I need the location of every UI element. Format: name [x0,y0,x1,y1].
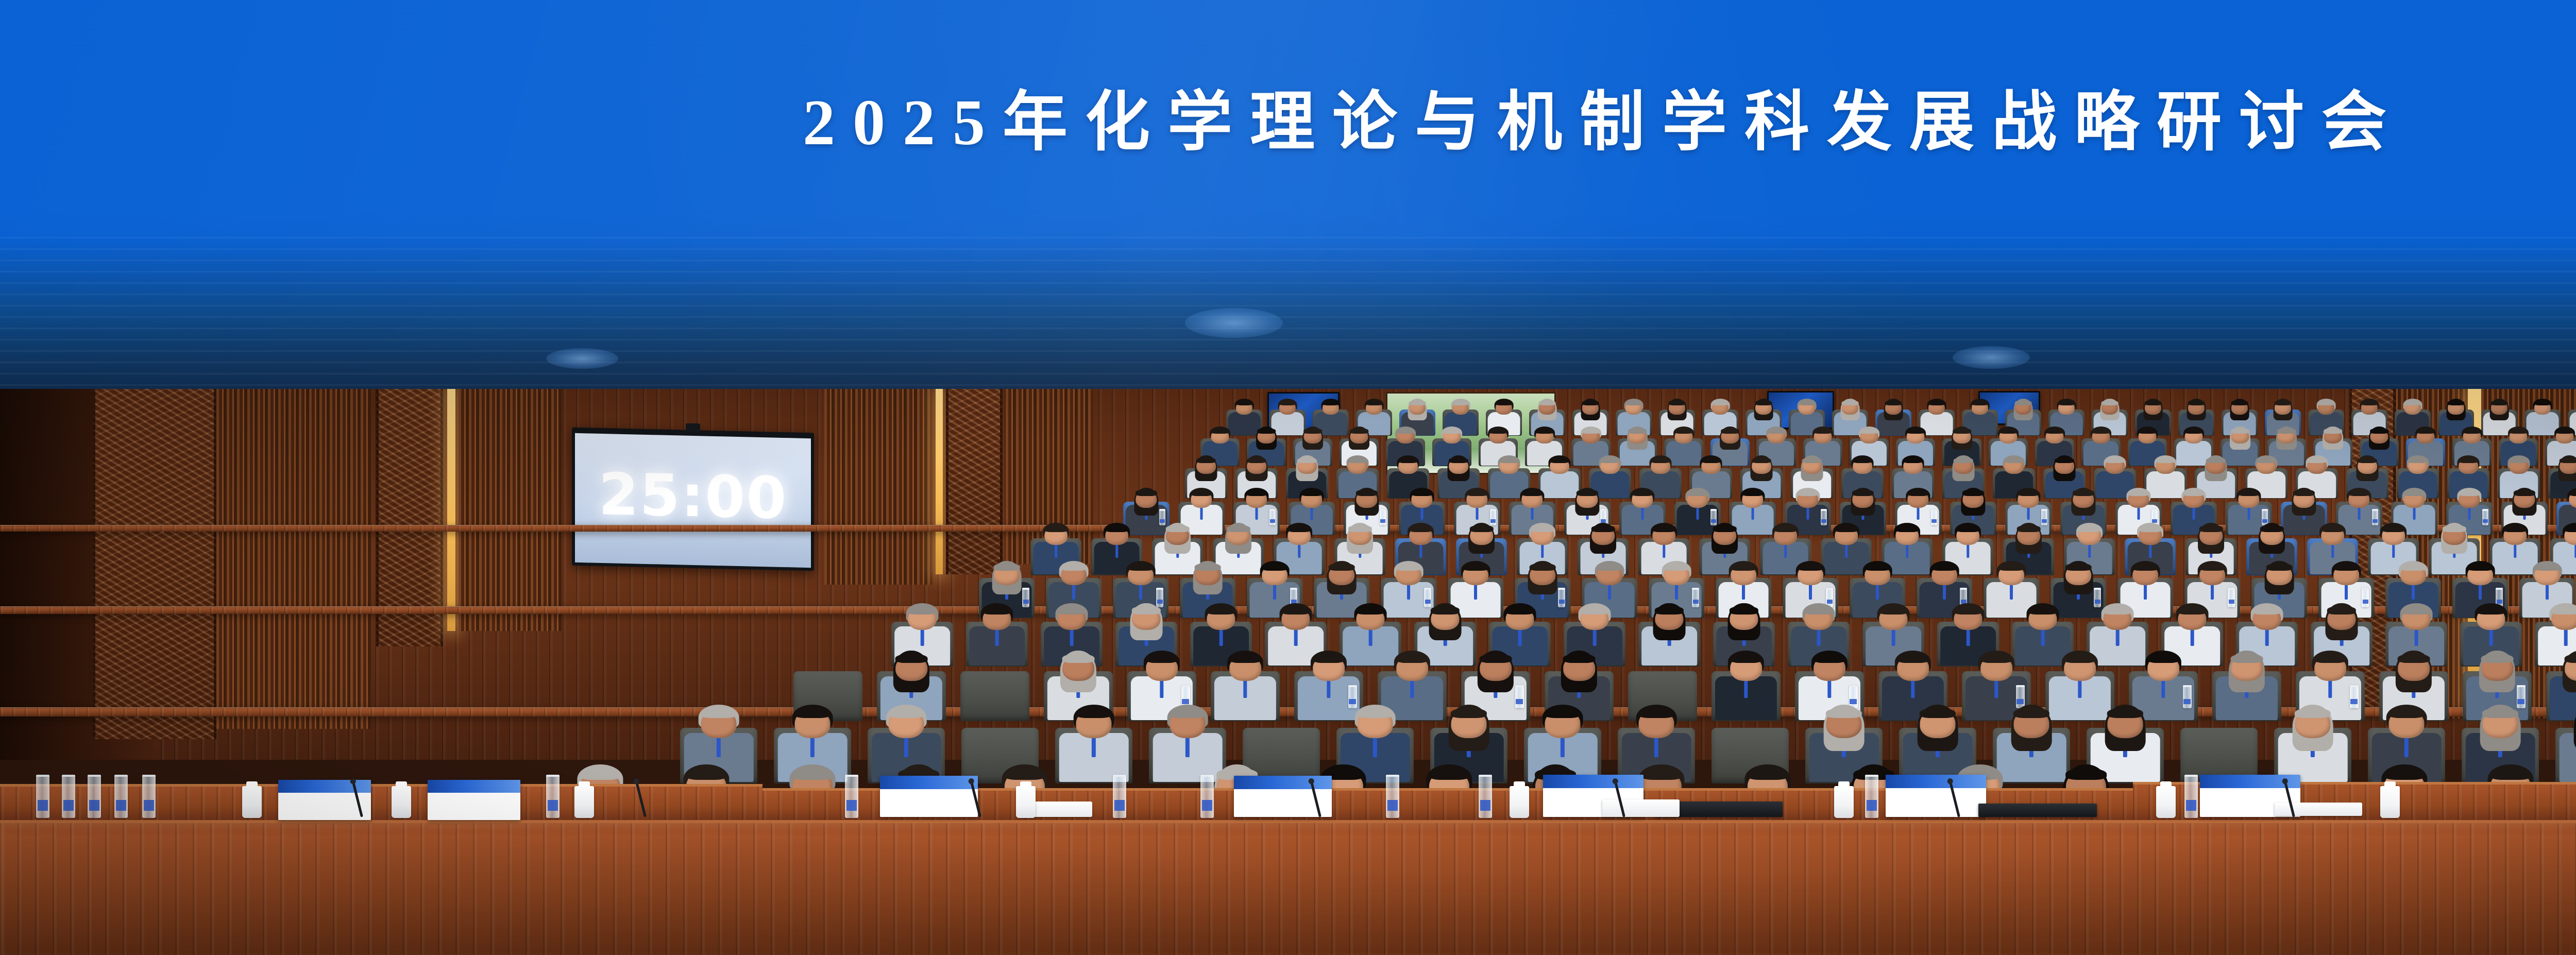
person-fringe [2107,708,2143,718]
person-fringe [1956,525,1979,532]
person-fringe [1466,489,1488,496]
person-fringe [1641,768,1682,780]
lanyard [717,737,721,758]
person-fringe [1628,428,1647,433]
ceiling-lamp-icon [546,348,618,369]
person-fringe [2481,654,2514,663]
lanyard [1256,507,1258,520]
person-fringe [1303,428,1322,433]
lanyard [1917,507,1920,520]
lanyard [1994,680,1998,698]
placard-org [880,776,978,789]
person-fringe [2105,457,2125,463]
lanyard [1541,544,1544,558]
person-fringe [1998,563,2025,571]
person-fringe [1226,525,1250,532]
person-fringe [2103,606,2132,614]
person-fringe [2058,400,2075,405]
person-fringe [2252,606,2281,614]
person-fringe [1211,428,1229,433]
lanyard [1294,629,1298,646]
person-fringe [1505,606,1534,614]
person-fringe [1730,654,1762,663]
person-fringe [1356,489,1378,496]
person-fringe [1229,654,1262,663]
lanyard [1752,507,1754,520]
person-fringe [1301,489,1323,496]
person-fringe [1962,489,1984,496]
lanyard [2412,585,2415,600]
person-fringe [2065,768,2107,780]
projector-screen: 25:00 [572,428,814,571]
lanyard [2413,507,2416,520]
person-fringe [1920,708,1956,718]
person-fringe [1348,457,1367,463]
person-fringe [994,563,1020,571]
person-fringe [2467,563,2494,571]
water-bottle [1113,775,1126,818]
lanyard [1641,507,1644,520]
open-document [2275,803,2362,816]
person-fringe [1687,489,1708,496]
person-fringe [1257,428,1276,433]
person-fringe [2388,708,2425,718]
lanyard [1421,507,1423,520]
person-fringe [888,708,924,718]
person-fringe [1865,563,1891,571]
person-fringe [2183,489,2205,496]
lanyard [1092,737,1096,758]
person-fringe [2295,708,2331,718]
placard-org [278,780,371,793]
person-fringe [1652,525,1675,532]
person-fringe [2503,525,2527,532]
auditorium-seat [960,671,1029,721]
person-fringe [2266,563,2293,571]
lanyard [1531,507,1534,520]
placard-org [428,780,520,793]
person-fringe [1632,489,1653,496]
person-fringe [2013,708,2049,718]
person-fringe [2015,400,2032,405]
person-fringe [1196,457,1216,463]
lanyard [1185,737,1190,758]
person-fringe [1767,428,1786,433]
person-fringe [1879,606,1908,614]
person-fringe [1348,525,1371,532]
lanyard [2041,629,2045,646]
lanyard [2138,507,2140,520]
person-fringe [1207,606,1235,614]
paper-cup [392,786,411,818]
person-fringe [1449,457,1468,463]
person-fringe [2400,563,2427,571]
person-fringe [2206,457,2226,463]
person-fringe [2138,428,2157,433]
lanyard [1407,585,1410,600]
lanyard [2415,629,2418,646]
lanyard [810,737,815,758]
banner-header: 2025年化学理论与机制学科发展战略研讨会 2025年9月26-28日 · 北京 [0,0,2576,391]
person-fringe [1577,489,1598,496]
person-fringe [1170,708,1206,718]
person-fringe [2145,400,2162,405]
person-fringe [1146,654,1178,663]
person-fringe [1953,428,1971,433]
lanyard [1419,544,1422,558]
water-bottle [1386,775,1399,818]
person-fringe [2384,768,2425,780]
name-placard [1886,775,1986,817]
person-fringe [1409,525,1432,532]
person-fringe [2293,489,2315,496]
person-fringe [1731,563,1757,571]
water-bottle [2228,588,2235,607]
person-fringe [1431,606,1460,614]
lanyard [1675,585,1678,600]
person-fringe [1954,457,1973,463]
person-fringe [1721,428,1739,433]
lanyard [2479,585,2482,600]
person-fringe [1799,400,1816,405]
person-fringe [1396,563,1422,571]
person-fringe [2275,400,2292,405]
person-fringe [2490,768,2531,780]
lanyard [2116,629,2120,646]
person-fringe [2320,525,2344,532]
person-fringe [2408,457,2428,463]
person-fringe [2327,606,2356,614]
person-fringe [2348,489,2370,496]
lanyard [1219,629,1223,646]
lanyard [2328,680,2332,698]
placard-name [428,793,520,820]
person-fringe [1062,654,1095,663]
paper-cup [1834,786,1854,818]
person-fringe [1999,428,2018,433]
person-fringe [2199,525,2223,532]
person-fringe [1329,563,1355,571]
person-fringe [1582,400,1599,405]
conference-banner-image: 2025年化学理论与机制学科发展战略研讨会 2025年9月26-28日 · 北京 [0,0,2576,955]
name-placard [428,780,520,820]
person-fringe [2404,400,2421,405]
person-fringe [1281,606,1310,614]
person-fringe [580,768,621,780]
water-bottle [114,775,128,818]
lanyard [1817,629,1821,646]
person-fringe [1451,708,1487,718]
audience-member [1711,651,1781,727]
person-fringe [2358,457,2377,463]
ribbed-wood-panel [216,389,371,729]
person-fringe [1826,708,1862,718]
person-fringe [1802,457,1822,463]
person-fringe [1191,489,1212,496]
lanyard [1911,680,1914,698]
person-fringe [1582,428,1600,433]
placard-org [1543,775,1643,788]
lanyard [1608,585,1611,600]
banner-ceiling-overlay [0,237,2576,391]
lanyard [1807,507,1809,520]
water-bottle [845,775,858,818]
lanyard [1943,585,1946,600]
person-fringe [2448,400,2465,405]
lanyard [1744,680,1748,698]
person-fringe [2509,457,2529,463]
person-fringe [1814,428,1832,433]
person-fringe [1897,654,1929,663]
open-document [1602,799,1680,817]
person-fringe [2564,525,2576,532]
placard-name [1886,788,1986,817]
person-fringe [1469,525,1493,532]
person-fringe [2102,400,2119,405]
person-fringe [2565,654,2576,663]
carved-wood-panel [946,389,1003,574]
conference-photo: 25:00 [0,389,2576,955]
person-fringe [1357,708,1393,718]
person-fringe [2231,654,2263,663]
person-fringe [1539,400,1556,405]
person-fringe [1366,400,1383,405]
person-fringe [1638,708,1674,718]
lanyard [1115,544,1118,558]
lanyard [1369,629,1372,646]
water-bottle [62,775,75,818]
person-fringe [1530,563,1556,571]
lanyard [1518,629,1522,646]
person-fringe [2398,654,2430,663]
person-fringe [1906,428,1925,433]
person-fringe [1655,606,1684,614]
lanyard [2358,507,2361,520]
person-fringe [2028,606,2057,614]
person-fringe [794,708,831,718]
person-fringe [1798,563,1824,571]
person-fringe [1411,489,1433,496]
person-fringe [1480,654,1512,663]
lanyard [2088,544,2091,558]
person-fringe [1105,525,1128,532]
placard-org [1234,776,1332,789]
lanyard [1784,544,1787,558]
person-fringe [1136,489,1157,496]
lanyard [1273,585,1276,600]
lanyard [2546,585,2549,600]
lanyard [1593,629,1597,646]
lanyard [1742,585,1745,600]
person-fringe [2065,563,2092,571]
person-fringe [1931,563,1958,571]
lanyard [2404,737,2409,758]
lanyard [2211,585,2214,600]
person-fringe [1712,400,1729,405]
lanyard [2514,544,2516,558]
placard-org [1886,775,1986,788]
person-fringe [2459,489,2480,496]
water-bottle [2184,775,2198,818]
person-fringe [2064,654,2096,663]
banner-light-streaks [0,0,2576,391]
lanyard [2010,585,2013,600]
person-fringe [2184,428,2203,433]
banner-title: 2025年化学理论与机制学科发展战略研讨会 [0,89,2576,158]
lanyard [1697,507,1699,520]
person-fringe [1713,525,1736,532]
person-fringe [1972,400,1989,405]
person-fringe [1550,457,1569,463]
person-fringe [1853,457,1872,463]
person-fringe [1701,457,1721,463]
water-bottle [142,775,156,818]
lanyard [2265,629,2269,646]
lanyard [1072,585,1075,600]
lanyard [1892,629,1895,646]
person-fringe [2073,489,2094,496]
person-fringe [2238,489,2260,496]
lanyard [1827,680,1831,698]
person-fringe [2045,428,2064,433]
person-fringe [701,708,737,718]
person-fringe [1165,525,1189,532]
person-fringe [1600,457,1620,463]
person-fringe [1895,525,1919,532]
person-fringe [1842,400,1859,405]
laptop [1978,804,2097,817]
lanyard [2027,507,2030,520]
person-fringe [2534,400,2551,405]
person-fringe [2477,606,2505,614]
person-fringe [2257,457,2276,463]
person-fringe [1545,708,1581,718]
person-fringe [2551,606,2576,614]
name-placard [880,776,978,817]
person-fringe [1279,400,1296,405]
person-hair [2574,705,2576,751]
person-fringe [1429,768,1470,780]
person-fringe [1625,400,1642,405]
person-fringe [1350,428,1368,433]
ceiling-lamp-icon [1185,308,1283,338]
person-fringe [1954,606,1982,614]
lanyard [2564,629,2568,646]
lanyard [2468,507,2471,520]
person-fringe [2560,457,2576,463]
person-fringe [1262,563,1288,571]
lanyard [2331,544,2334,558]
person-fringe [1409,400,1426,405]
person-fringe [1814,654,1846,663]
person-fringe [1496,400,1513,405]
lanyard [1055,544,1057,558]
person-fringe [1236,400,1253,405]
lanyard [2489,629,2493,646]
lanyard [1845,544,1848,558]
lanyard [921,629,924,646]
water-bottle [546,775,560,818]
person-fringe [2128,489,2149,496]
paper-cup [2380,786,2400,818]
person-fringe [2463,428,2481,433]
ribbed-wood-panel [459,389,562,631]
lanyard [1311,507,1313,520]
carved-wood-panel [93,389,216,739]
lanyard [995,629,999,646]
person-fringe [1580,606,1609,614]
water-bottle [88,775,101,818]
person-fringe [2314,654,2347,663]
water-bottle [2482,509,2488,526]
lanyard [1373,737,1377,758]
paper-cup [574,786,594,818]
paper-cup [2156,786,2176,818]
person-fringe [2092,428,2110,433]
person-fringe [2260,525,2283,532]
lanyard [2193,507,2195,520]
person-fringe [1398,457,1418,463]
person-fringe [1463,563,1489,571]
person-fringe [2491,400,2508,405]
person-fringe [982,606,1011,614]
person-fringe [2459,457,2478,463]
person-fringe [2307,457,2327,463]
person-fringe [1247,457,1266,463]
person-fringe [2055,457,2074,463]
placard-name [880,789,978,817]
person-fringe [2231,400,2248,405]
person-fringe [1860,428,1878,433]
person-fringe [1597,563,1623,571]
person-fringe [2277,428,2296,433]
person-fringe [1396,654,1429,663]
water-bottle [1865,775,1878,818]
person-fringe [1747,768,1788,780]
person-fringe [2077,525,2101,532]
person-fringe [2514,489,2535,496]
paper-cup [1510,786,1529,818]
amber-light-strip [447,389,455,631]
person-fringe [1044,525,1067,532]
person-fringe [1061,563,1087,571]
person-fringe [1755,400,1772,405]
person-fringe [1852,489,1874,496]
water-bottle [1200,775,1214,818]
person-fringe [1752,457,1771,463]
person-fringe [1396,428,1415,433]
person-fringe [1443,428,1461,433]
person-fringe [1928,400,1945,405]
person-fringe [1323,400,1340,405]
lanyard [1243,680,1247,698]
person-fringe [1651,457,1670,463]
person-fringe [1885,400,1902,405]
person-fringe [2138,525,2162,532]
person-fringe [2004,457,2024,463]
water-bottle [1479,775,1492,818]
lanyard [1298,544,1300,558]
person-fringe [2534,563,2561,571]
ceiling-lamp-icon [1953,346,2030,369]
person-fringe [2370,428,2388,433]
lanyard [1474,585,1477,600]
lanyard [1809,585,1812,600]
paper-cup [242,786,262,818]
person-fringe [1287,525,1311,532]
person-fringe [686,768,727,780]
person-fringe [895,654,928,663]
